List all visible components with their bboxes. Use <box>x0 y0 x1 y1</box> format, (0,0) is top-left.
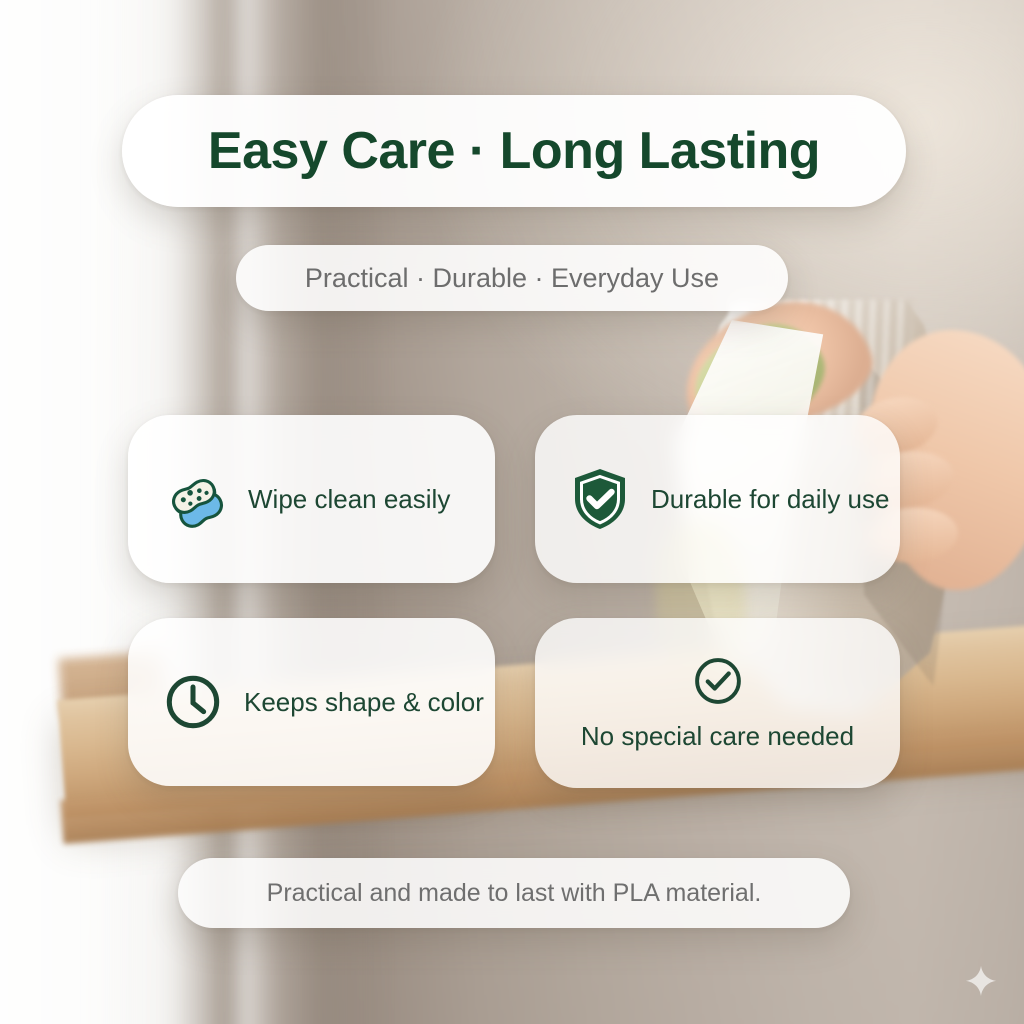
feature-card-keeps-shape[interactable]: Keeps shape & color <box>128 618 495 786</box>
footer-text: Practical and made to last with PLA mate… <box>267 879 762 908</box>
feature-label: No special care needed <box>581 721 854 752</box>
sponge-icon <box>164 468 226 530</box>
subtitle-pill: Practical · Durable · Everyday Use <box>236 245 788 311</box>
feature-card-wipe-clean[interactable]: Wipe clean easily <box>128 415 495 583</box>
feature-card-durable[interactable]: Durable for daily use <box>535 415 900 583</box>
page-subtitle: Practical · Durable · Everyday Use <box>305 263 719 294</box>
feature-label: Wipe clean easily <box>248 484 450 515</box>
sparkle-icon <box>964 964 998 998</box>
infographic-canvas: Easy Care · Long Lasting Practical · Dur… <box>0 0 1024 1024</box>
check-circle-icon <box>692 655 744 707</box>
clock-icon <box>164 673 222 731</box>
feature-card-no-special-care[interactable]: No special care needed <box>535 618 900 788</box>
title-pill: Easy Care · Long Lasting <box>122 95 906 207</box>
page-title: Easy Care · Long Lasting <box>208 121 820 181</box>
feature-label: Keeps shape & color <box>244 687 484 718</box>
footer-pill: Practical and made to last with PLA mate… <box>178 858 850 928</box>
shield-check-icon <box>571 467 629 531</box>
feature-label: Durable for daily use <box>651 484 889 515</box>
